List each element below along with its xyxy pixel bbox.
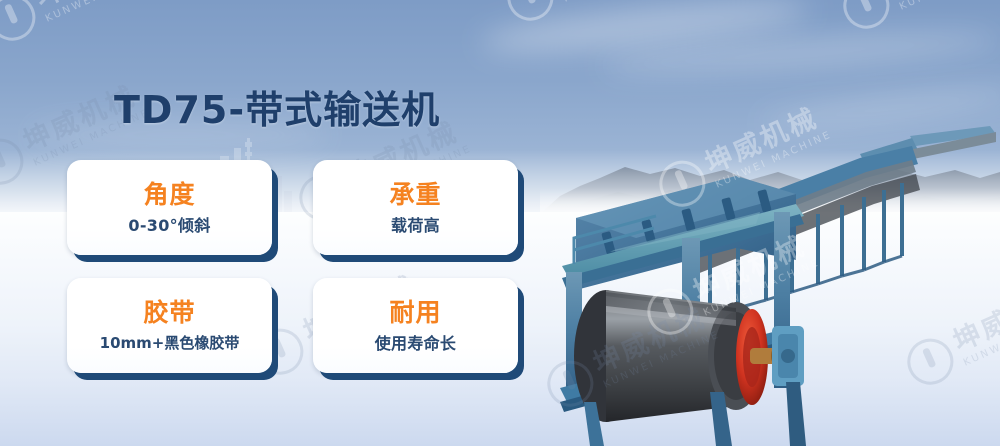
feature-card-belt[interactable]: 胶带 10mm+黑色橡胶带 bbox=[67, 278, 272, 373]
product-banner: 坤威机械 KUNWEI MACHINE 坤威机械 KUNWEI MACHINE … bbox=[0, 0, 1000, 446]
page-title: TD75-带式输送机 bbox=[114, 79, 440, 134]
feature-card-subtitle: 使用寿命长 bbox=[375, 336, 457, 352]
feature-card-title: 耐用 bbox=[389, 300, 441, 325]
feature-card-load[interactable]: 承重 载荷高 bbox=[313, 160, 518, 255]
feature-card-subtitle: 0-30°倾斜 bbox=[128, 218, 210, 234]
feature-card-title: 角度 bbox=[143, 182, 195, 207]
feature-card-angle[interactable]: 角度 0-30°倾斜 bbox=[67, 160, 272, 255]
feature-card-row: 角度 0-30°倾斜 承重 载荷高 bbox=[67, 160, 519, 255]
feature-card-row: 胶带 10mm+黑色橡胶带 耐用 使用寿命长 bbox=[67, 278, 519, 373]
feature-card-subtitle: 载荷高 bbox=[391, 218, 440, 234]
feature-card-subtitle: 10mm+黑色橡胶带 bbox=[100, 336, 240, 351]
feature-card-title: 胶带 bbox=[143, 300, 195, 325]
feature-card-title: 承重 bbox=[389, 182, 441, 207]
feature-card-durability[interactable]: 耐用 使用寿命长 bbox=[313, 278, 518, 373]
belt-conveyor-image bbox=[560, 120, 1000, 446]
feature-card-grid: 角度 0-30°倾斜 承重 载荷高 胶带 10mm+黑色橡胶带 耐用 使用寿命长 bbox=[67, 160, 519, 373]
